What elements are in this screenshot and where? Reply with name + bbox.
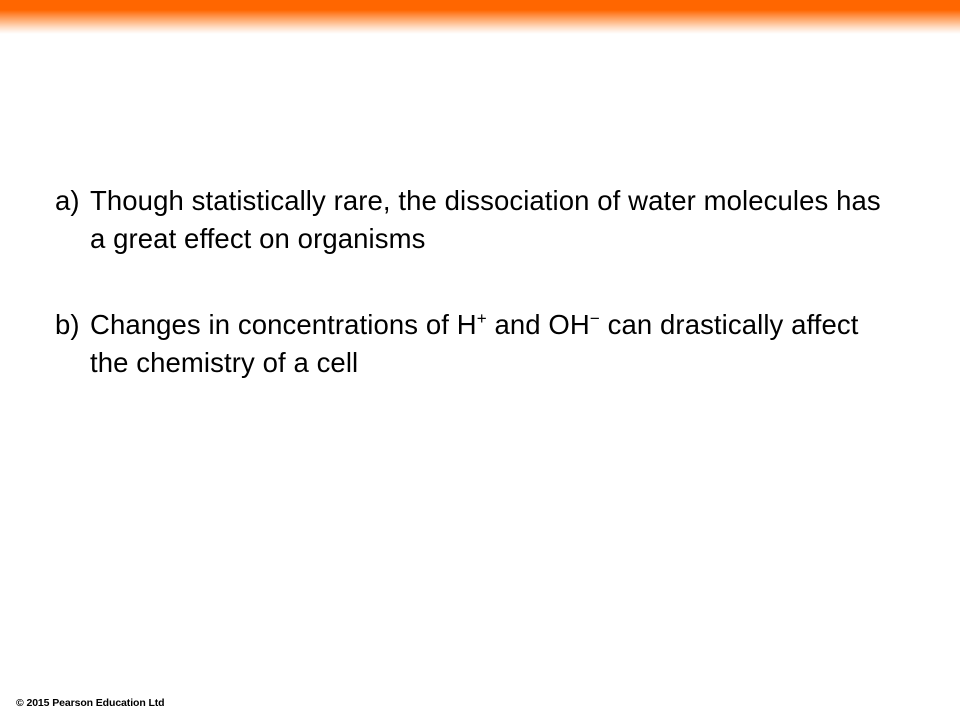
superscript-charge: − bbox=[590, 309, 600, 328]
slide-body: a) Though statistically rare, the dissoc… bbox=[55, 182, 905, 382]
band-fade-stripe bbox=[0, 10, 960, 34]
slide-canvas: a) Though statistically rare, the dissoc… bbox=[0, 0, 960, 720]
list-item-a: a) Though statistically rare, the dissoc… bbox=[55, 182, 905, 258]
list-marker-a: a) bbox=[55, 182, 90, 220]
copyright-footer: © 2015 Pearson Education Ltd bbox=[16, 697, 164, 709]
list-item-b-text: Changes in concentrations of H+ and OH− … bbox=[90, 306, 885, 382]
list-marker-b: b) bbox=[55, 306, 90, 344]
orange-gradient-band bbox=[0, 0, 960, 34]
band-solid-stripe bbox=[0, 0, 960, 10]
list-item-a-text: Though statistically rare, the dissociat… bbox=[90, 182, 885, 258]
list-item-b: b) Changes in concentrations of H+ and O… bbox=[55, 306, 905, 382]
superscript-charge: + bbox=[477, 309, 487, 328]
